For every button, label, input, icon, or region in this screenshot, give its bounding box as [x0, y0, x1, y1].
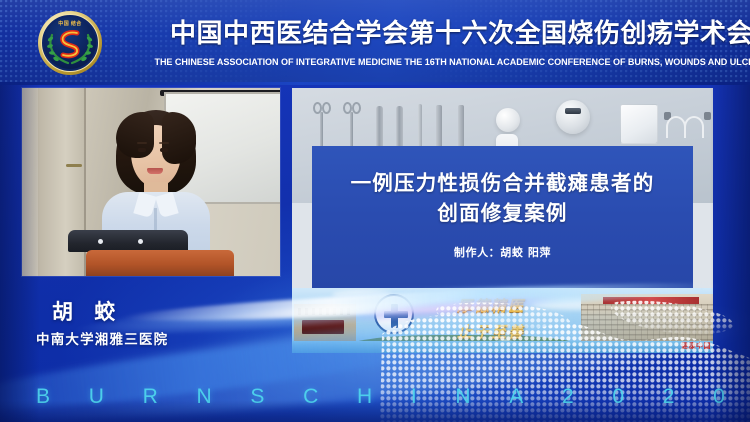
- wordmark-letter-13: 0: [713, 385, 726, 409]
- hospital-secondary-sign: [302, 320, 344, 334]
- hospital-building-sign: [603, 297, 699, 304]
- slide-title-line1: 一例压力性损伤合并截瘫患者的: [312, 168, 693, 198]
- presenter-eye-right: [160, 148, 168, 152]
- conference-header-banner: 中国 结合 中国中西医结合学会第十六次全国烧伤创疡学术会议 THE CHINES…: [0, 0, 750, 85]
- video-podium-desk: [86, 250, 234, 276]
- wordmark-letter-8: N: [455, 385, 471, 409]
- wordmark-letter-6: H: [357, 385, 373, 409]
- slide-title: 一例压力性损伤合并截瘫患者的 创面修复案例: [312, 168, 693, 228]
- video-laptop-screw-left: [98, 239, 103, 244]
- presentation-slide-panel[interactable]: 一例压力性损伤合并截瘫患者的 创面修复案例 制作人：胡蛟 阳萍 厚德精医 止于至…: [292, 88, 713, 353]
- speaker-organization: 中南大学湘雅三医院: [36, 328, 168, 348]
- presenter-eye-left: [138, 148, 146, 152]
- presenter-hair-left: [116, 112, 154, 158]
- right-edge-shade: [710, 85, 750, 422]
- wordmark-letter-0: B: [36, 385, 51, 409]
- presenter-video-panel[interactable]: [22, 88, 280, 276]
- wordmark-letter-2: R: [143, 385, 159, 409]
- specimen-jar-icon: [496, 108, 520, 132]
- wordmark-letter-7: I: [411, 385, 418, 409]
- emblem-top-text: 中国 结合: [58, 20, 81, 27]
- video-laptop-screw-right: [138, 239, 143, 244]
- speaker-name: 胡 蛟: [52, 296, 122, 326]
- video-laptop: [68, 230, 188, 252]
- event-wordmark: B U R N S C H I N A 2 0 2 0: [36, 382, 726, 412]
- slide-author-line: 制作人：胡蛟 阳萍: [312, 244, 693, 260]
- presenter-brow-left: [137, 142, 147, 144]
- video-door-handle: [66, 164, 82, 167]
- header-underline: [0, 82, 750, 85]
- hospital-cross-emblem-icon: [374, 294, 414, 334]
- conference-title-en: THE CHINESE ASSOCIATION OF INTEGRATIVE M…: [154, 55, 740, 69]
- wordmark-letter-4: S: [250, 385, 265, 409]
- conference-stream-stage: 中国 结合 中国中西医结合学会第十六次全国烧伤创疡学术会议 THE CHINES…: [0, 0, 750, 422]
- presenter-brow-right: [159, 142, 169, 144]
- hospital-motto-line1: 厚德精医: [426, 293, 556, 319]
- hospital-motto: 厚德精医 止于至善: [426, 293, 556, 348]
- gauze-pack-icon: [620, 104, 658, 144]
- wordmark-letter-12: 2: [663, 385, 676, 409]
- wordmark-letter-1: U: [89, 385, 105, 409]
- wordmark-letter-5: C: [303, 385, 319, 409]
- emblem-s-flame-icon: [57, 29, 83, 59]
- presenter-mouth: [147, 168, 163, 174]
- stethoscope-icon: [666, 112, 712, 142]
- slide-hospital-banner: 厚德精医 止于至善 健康中国: [292, 288, 713, 353]
- wordmark-letter-10: 2: [562, 385, 575, 409]
- wordmark-letter-3: N: [196, 385, 212, 409]
- slide-title-line2: 创面修复案例: [312, 198, 693, 228]
- slide-title-box: 一例压力性损伤合并截瘫患者的 创面修复案例 制作人：胡蛟 阳萍: [312, 146, 693, 288]
- wordmark-letter-9: A: [509, 385, 524, 409]
- presenter-hair-right: [162, 112, 196, 164]
- petri-dish-icon: [556, 100, 590, 134]
- hospital-motto-line2: 止于至善: [426, 319, 556, 345]
- conference-title-cn: 中国中西医结合学会第十六次全国烧伤创疡学术会议: [170, 17, 740, 51]
- hospital-corner-text: 健康中国: [681, 341, 711, 351]
- association-emblem-icon: 中国 结合: [38, 11, 102, 75]
- wordmark-letter-11: 0: [612, 385, 625, 409]
